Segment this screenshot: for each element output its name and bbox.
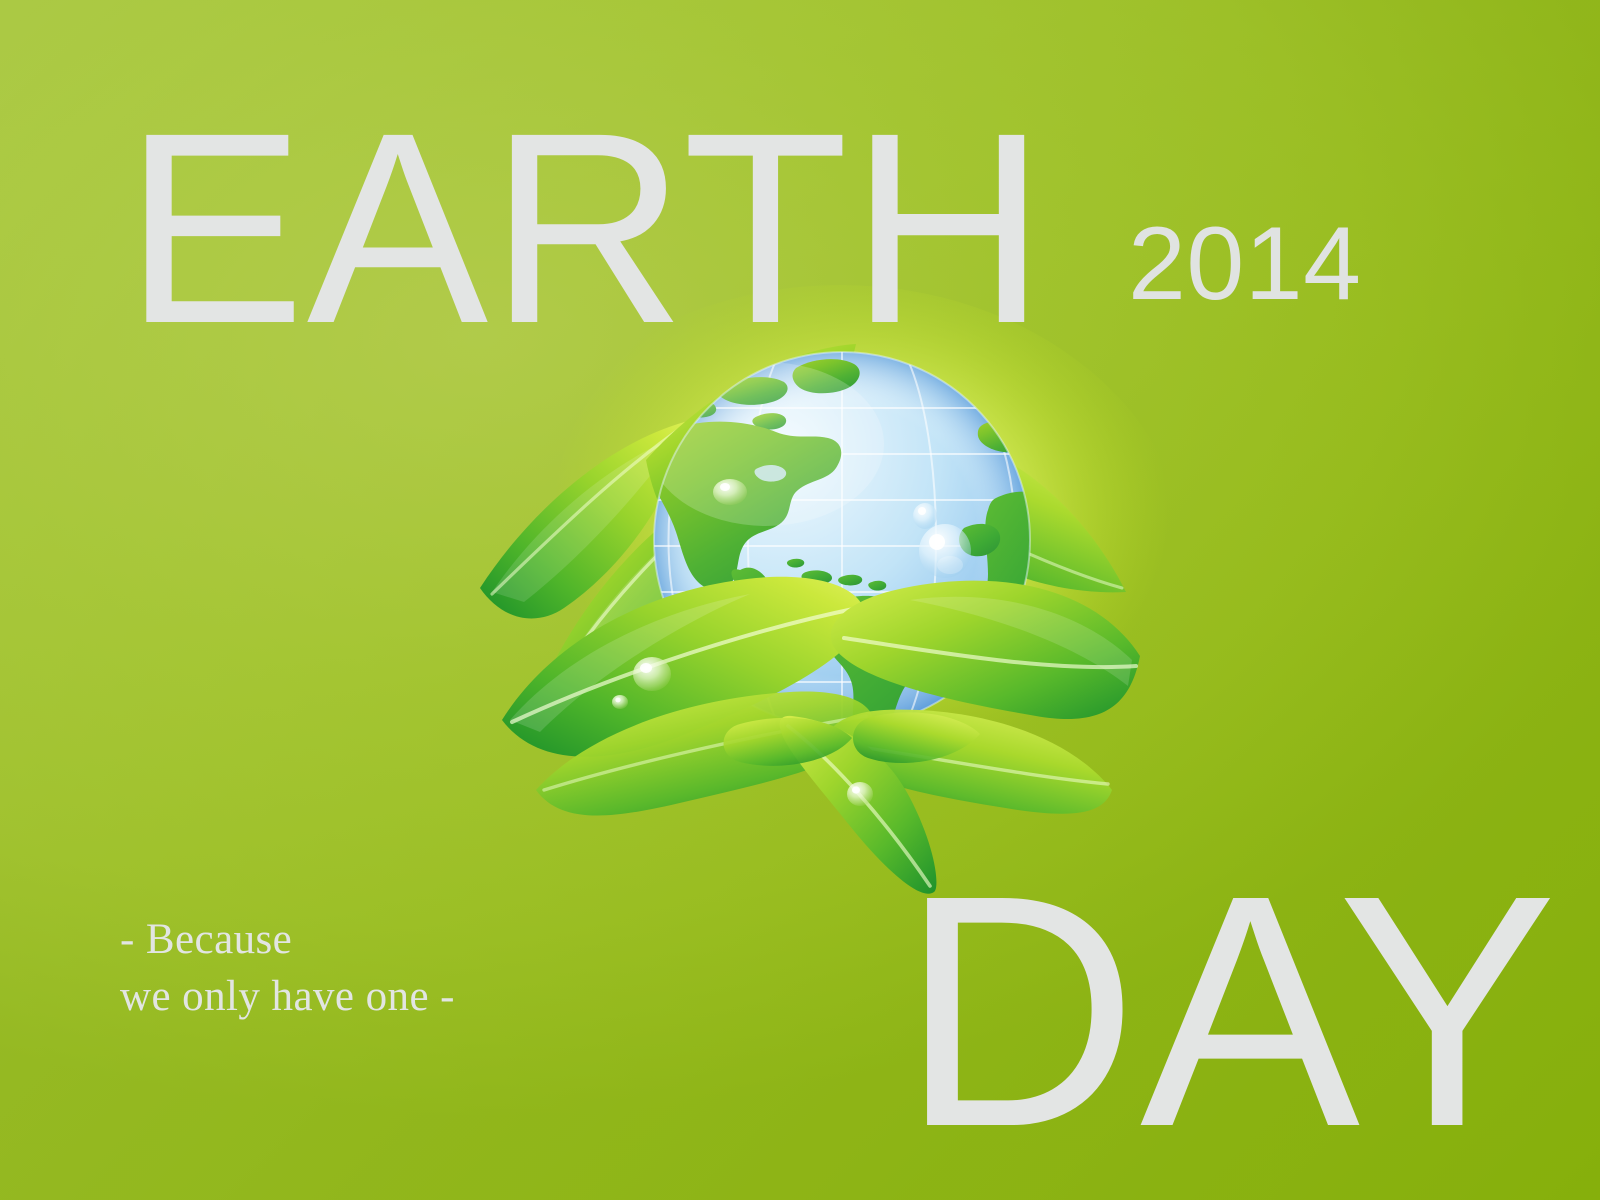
page-title-earth: EARTH <box>124 92 1048 364</box>
year-label: 2014 <box>1128 212 1361 316</box>
tagline: - Because we only have one - <box>120 912 455 1026</box>
earth-day-poster: EARTH 2014 DAY - Because we only have on… <box>0 0 1600 1200</box>
tagline-line-2: we only have one - <box>120 969 455 1026</box>
tagline-line-1: - Because <box>120 912 455 969</box>
droplet-center-leaf <box>847 782 873 806</box>
earth-globe-emblem <box>440 320 1200 900</box>
page-title-day: DAY <box>900 846 1559 1176</box>
